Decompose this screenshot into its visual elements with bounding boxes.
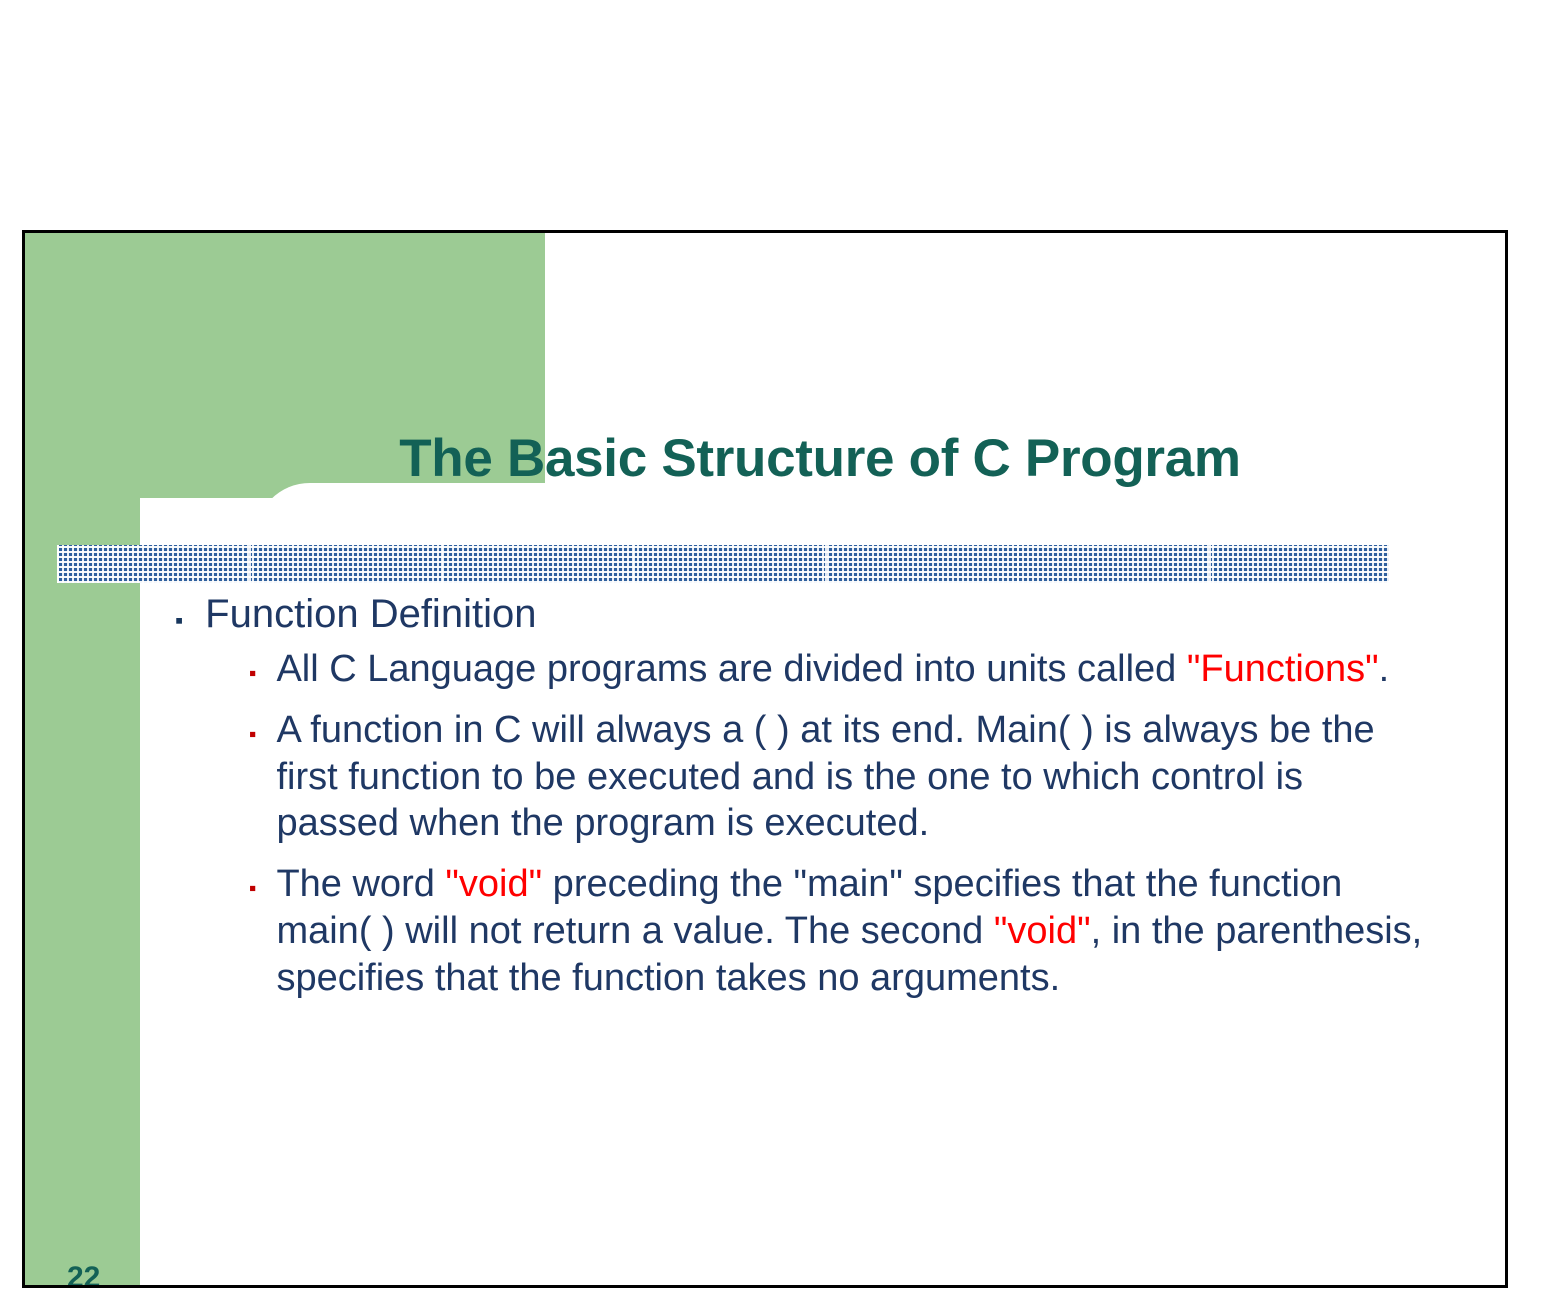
text-run: .: [1379, 648, 1390, 690]
text-run: All C Language programs are divided into…: [276, 648, 1186, 690]
bullet-level1: ▪ Function Definition: [175, 591, 1475, 638]
slide-body: ▪ Function Definition ▪ All C Language p…: [175, 591, 1475, 1015]
list-item: ▪ The word "void" preceding the "main" s…: [249, 861, 1475, 1001]
list-item: ▪ All C Language programs are divided in…: [249, 646, 1475, 693]
list-item-text: All C Language programs are divided into…: [276, 646, 1389, 693]
square-bullet-icon: ▪: [249, 724, 256, 745]
slide-title: The Basic Structure of C Program: [160, 431, 1480, 487]
list-item-text: A function in C will always a ( ) at its…: [276, 707, 1426, 847]
bullet-level1-label: Function Definition: [205, 591, 536, 638]
slide-canvas: The Basic Structure of C Program ▪ Funct…: [0, 0, 1557, 1291]
text-run: The word: [276, 863, 445, 905]
square-bullet-icon: ▪: [175, 609, 183, 632]
bullet-level2-list: ▪ All C Language programs are divided in…: [175, 646, 1475, 1001]
text-run: A function in C will always a ( ) at its…: [276, 709, 1374, 844]
list-item: ▪ A function in C will always a ( ) at i…: [249, 707, 1475, 847]
square-bullet-icon: ▪: [249, 663, 256, 684]
highlighted-term: "void": [994, 910, 1091, 952]
list-item-text: The word "void" preceding the "main" spe…: [276, 861, 1426, 1001]
slide-frame: The Basic Structure of C Program ▪ Funct…: [22, 230, 1508, 1288]
highlighted-term: "void": [445, 863, 542, 905]
page-number: 22: [67, 1261, 100, 1288]
decorative-green-block: [25, 233, 545, 358]
decorative-green-sidebar: [25, 358, 140, 1288]
title-divider: [57, 545, 1389, 583]
highlighted-term: "Functions": [1187, 648, 1379, 690]
square-bullet-icon: ▪: [249, 878, 256, 899]
